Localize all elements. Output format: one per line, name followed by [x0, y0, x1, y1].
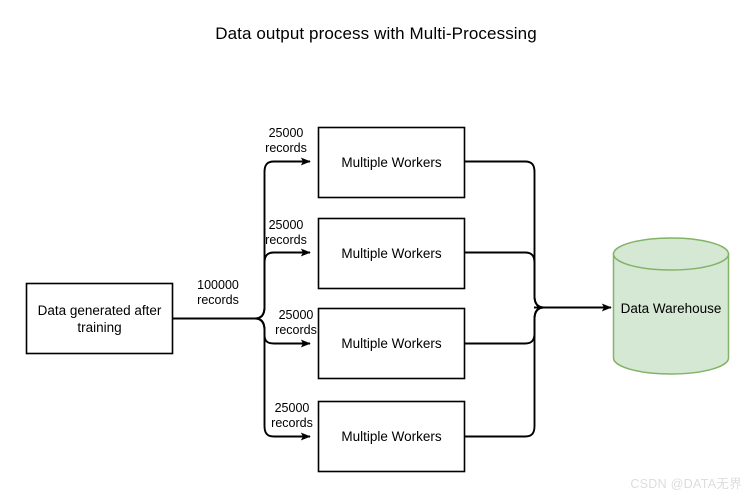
edge-merge-1 — [465, 162, 545, 308]
watermark: CSDN @DATA无界 — [630, 473, 742, 492]
cylinder-top-ellipse — [614, 238, 729, 270]
data-warehouse-cylinder[interactable] — [614, 238, 729, 374]
edge-merge-4 — [465, 308, 545, 437]
source-box[interactable] — [27, 284, 173, 354]
diagram-svg — [0, 0, 752, 500]
edge-branch-2 — [255, 253, 310, 319]
edge-merge-3 — [465, 308, 545, 344]
worker-box-4[interactable] — [319, 402, 465, 472]
edge-branch-1 — [255, 162, 310, 319]
page-title: Data output process with Multi-Processin… — [0, 24, 752, 44]
diagram-canvas: Data output process with Multi-Processin… — [0, 0, 752, 500]
worker-box-3[interactable] — [319, 309, 465, 379]
worker-box-1[interactable] — [319, 128, 465, 198]
worker-box-2[interactable] — [319, 219, 465, 289]
edge-merge-2 — [465, 253, 545, 308]
edge-branch-4 — [255, 319, 310, 437]
